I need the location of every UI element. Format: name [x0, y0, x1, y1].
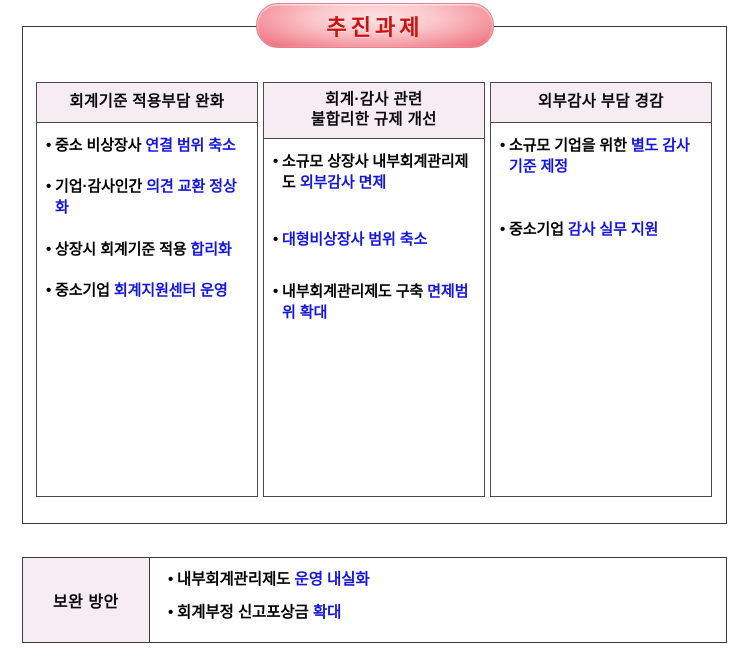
list-item-text: 내부회계관리제도 운영 내실화: [177, 569, 726, 591]
list-item: • 내부회계관리제도 운영 내실화: [168, 569, 726, 591]
bullet-icon: •: [273, 151, 278, 172]
title-pill: 추진과제: [256, 3, 494, 48]
column-1-items: • 중소 비상장사 연결 범위 축소 • 기업·감사인간 의견 교환 정상화 •…: [37, 123, 257, 496]
item-plain-text: 중소기업: [55, 282, 114, 299]
title-banner: 추진과제: [0, 3, 750, 49]
list-item: • 내부회계관리제도 구축 면제범위 확대: [273, 281, 475, 324]
item-plain-text: 회계부정 신고포상금: [177, 604, 313, 621]
column-2-header-line1: 회계·감사 관련: [268, 90, 480, 110]
item-highlight-text: 대형비상장사 범위 축소: [282, 231, 427, 248]
list-item: • 소규모 기업을 위한 별도 감사기준 제정: [500, 135, 702, 178]
list-item-text: 소규모 기업을 위한 별도 감사기준 제정: [509, 135, 702, 178]
bullet-icon: •: [46, 135, 51, 156]
bullet-icon: •: [273, 281, 278, 302]
column-2-header-line2: 불합리한 규제 개선: [268, 110, 480, 130]
column-3-items: • 소규모 기업을 위한 별도 감사기준 제정 • 중소기업 감사 실무 지원: [491, 123, 711, 496]
bullet-icon: •: [500, 219, 505, 240]
item-highlight-text: 합리화: [191, 241, 232, 258]
list-item: • 중소 비상장사 연결 범위 축소: [46, 135, 248, 156]
list-item: • 상장시 회계기준 적용 합리화: [46, 239, 248, 260]
list-item: • 중소기업 회계지원센터 운영: [46, 280, 248, 301]
list-item-text: 소규모 상장사 내부회계관리제도 외부감사 면제: [282, 151, 475, 194]
task-columns: 회계기준 적용부담 완화 • 중소 비상장사 연결 범위 축소 • 기업·감사인…: [36, 82, 712, 497]
list-item-text: 중소기업 감사 실무 지원: [509, 219, 702, 240]
supplementary-measures-box: 보완 방안 • 내부회계관리제도 운영 내실화 • 회계부정 신고포상금 확대: [22, 557, 727, 643]
list-item: • 소규모 상장사 내부회계관리제도 외부감사 면제: [273, 151, 475, 194]
item-highlight-text: 확대: [313, 604, 341, 621]
task-column-3: 외부감사 부담 경감 • 소규모 기업을 위한 별도 감사기준 제정 • 중소기…: [490, 82, 712, 497]
list-item: • 중소기업 감사 실무 지원: [500, 219, 702, 240]
item-plain-text: 중소 비상장사: [55, 137, 145, 154]
list-item: • 대형비상장사 범위 축소: [273, 229, 475, 250]
item-plain-text: 중소기업: [509, 221, 568, 238]
item-highlight-text: 외부감사 면제: [300, 174, 386, 191]
item-highlight-text: 연결 범위 축소: [146, 137, 236, 154]
supplementary-measures-label: 보완 방안: [23, 558, 150, 642]
list-item: • 기업·감사인간 의견 교환 정상화: [46, 176, 248, 219]
bullet-icon: •: [46, 280, 51, 301]
bullet-icon: •: [46, 239, 51, 260]
task-column-1: 회계기준 적용부담 완화 • 중소 비상장사 연결 범위 축소 • 기업·감사인…: [36, 82, 258, 497]
bullet-icon: •: [500, 135, 505, 156]
column-2-header: 회계·감사 관련 불합리한 규제 개선: [264, 83, 484, 139]
list-item-text: 대형비상장사 범위 축소: [282, 229, 475, 250]
item-plain-text: 내부회계관리제도 구축: [282, 283, 427, 300]
bullet-icon: •: [273, 229, 278, 250]
item-highlight-text: 회계지원센터 운영: [114, 282, 228, 299]
column-2-items: • 소규모 상장사 내부회계관리제도 외부감사 면제 • 대형비상장사 범위 축…: [264, 139, 484, 496]
item-plain-text: 소규모 기업을 위한: [509, 137, 631, 154]
bullet-icon: •: [168, 569, 173, 590]
supplementary-measures-items: • 내부회계관리제도 운영 내실화 • 회계부정 신고포상금 확대: [150, 558, 726, 642]
list-item-text: 회계부정 신고포상금 확대: [177, 602, 726, 624]
list-item-text: 기업·감사인간 의견 교환 정상화: [55, 176, 248, 219]
list-item-text: 내부회계관리제도 구축 면제범위 확대: [282, 281, 475, 324]
column-3-header: 외부감사 부담 경감: [491, 83, 711, 123]
item-plain-text: 내부회계관리제도: [177, 571, 295, 588]
bullet-icon: •: [46, 176, 51, 197]
list-item-text: 상장시 회계기준 적용 합리화: [55, 239, 248, 260]
column-1-header: 회계기준 적용부담 완화: [37, 83, 257, 123]
list-item: • 회계부정 신고포상금 확대: [168, 602, 726, 624]
bullet-icon: •: [168, 602, 173, 623]
item-highlight-text: 운영 내실화: [295, 571, 370, 588]
list-item-text: 중소기업 회계지원센터 운영: [55, 280, 248, 301]
item-plain-text: 상장시 회계기준 적용: [55, 241, 191, 258]
list-item-text: 중소 비상장사 연결 범위 축소: [55, 135, 248, 156]
item-plain-text: 기업·감사인간: [55, 178, 146, 195]
item-highlight-text: 감사 실무 지원: [568, 221, 658, 238]
task-column-2: 회계·감사 관련 불합리한 규제 개선 • 소규모 상장사 내부회계관리제도 외…: [263, 82, 485, 497]
page-title: 추진과제: [327, 10, 424, 42]
